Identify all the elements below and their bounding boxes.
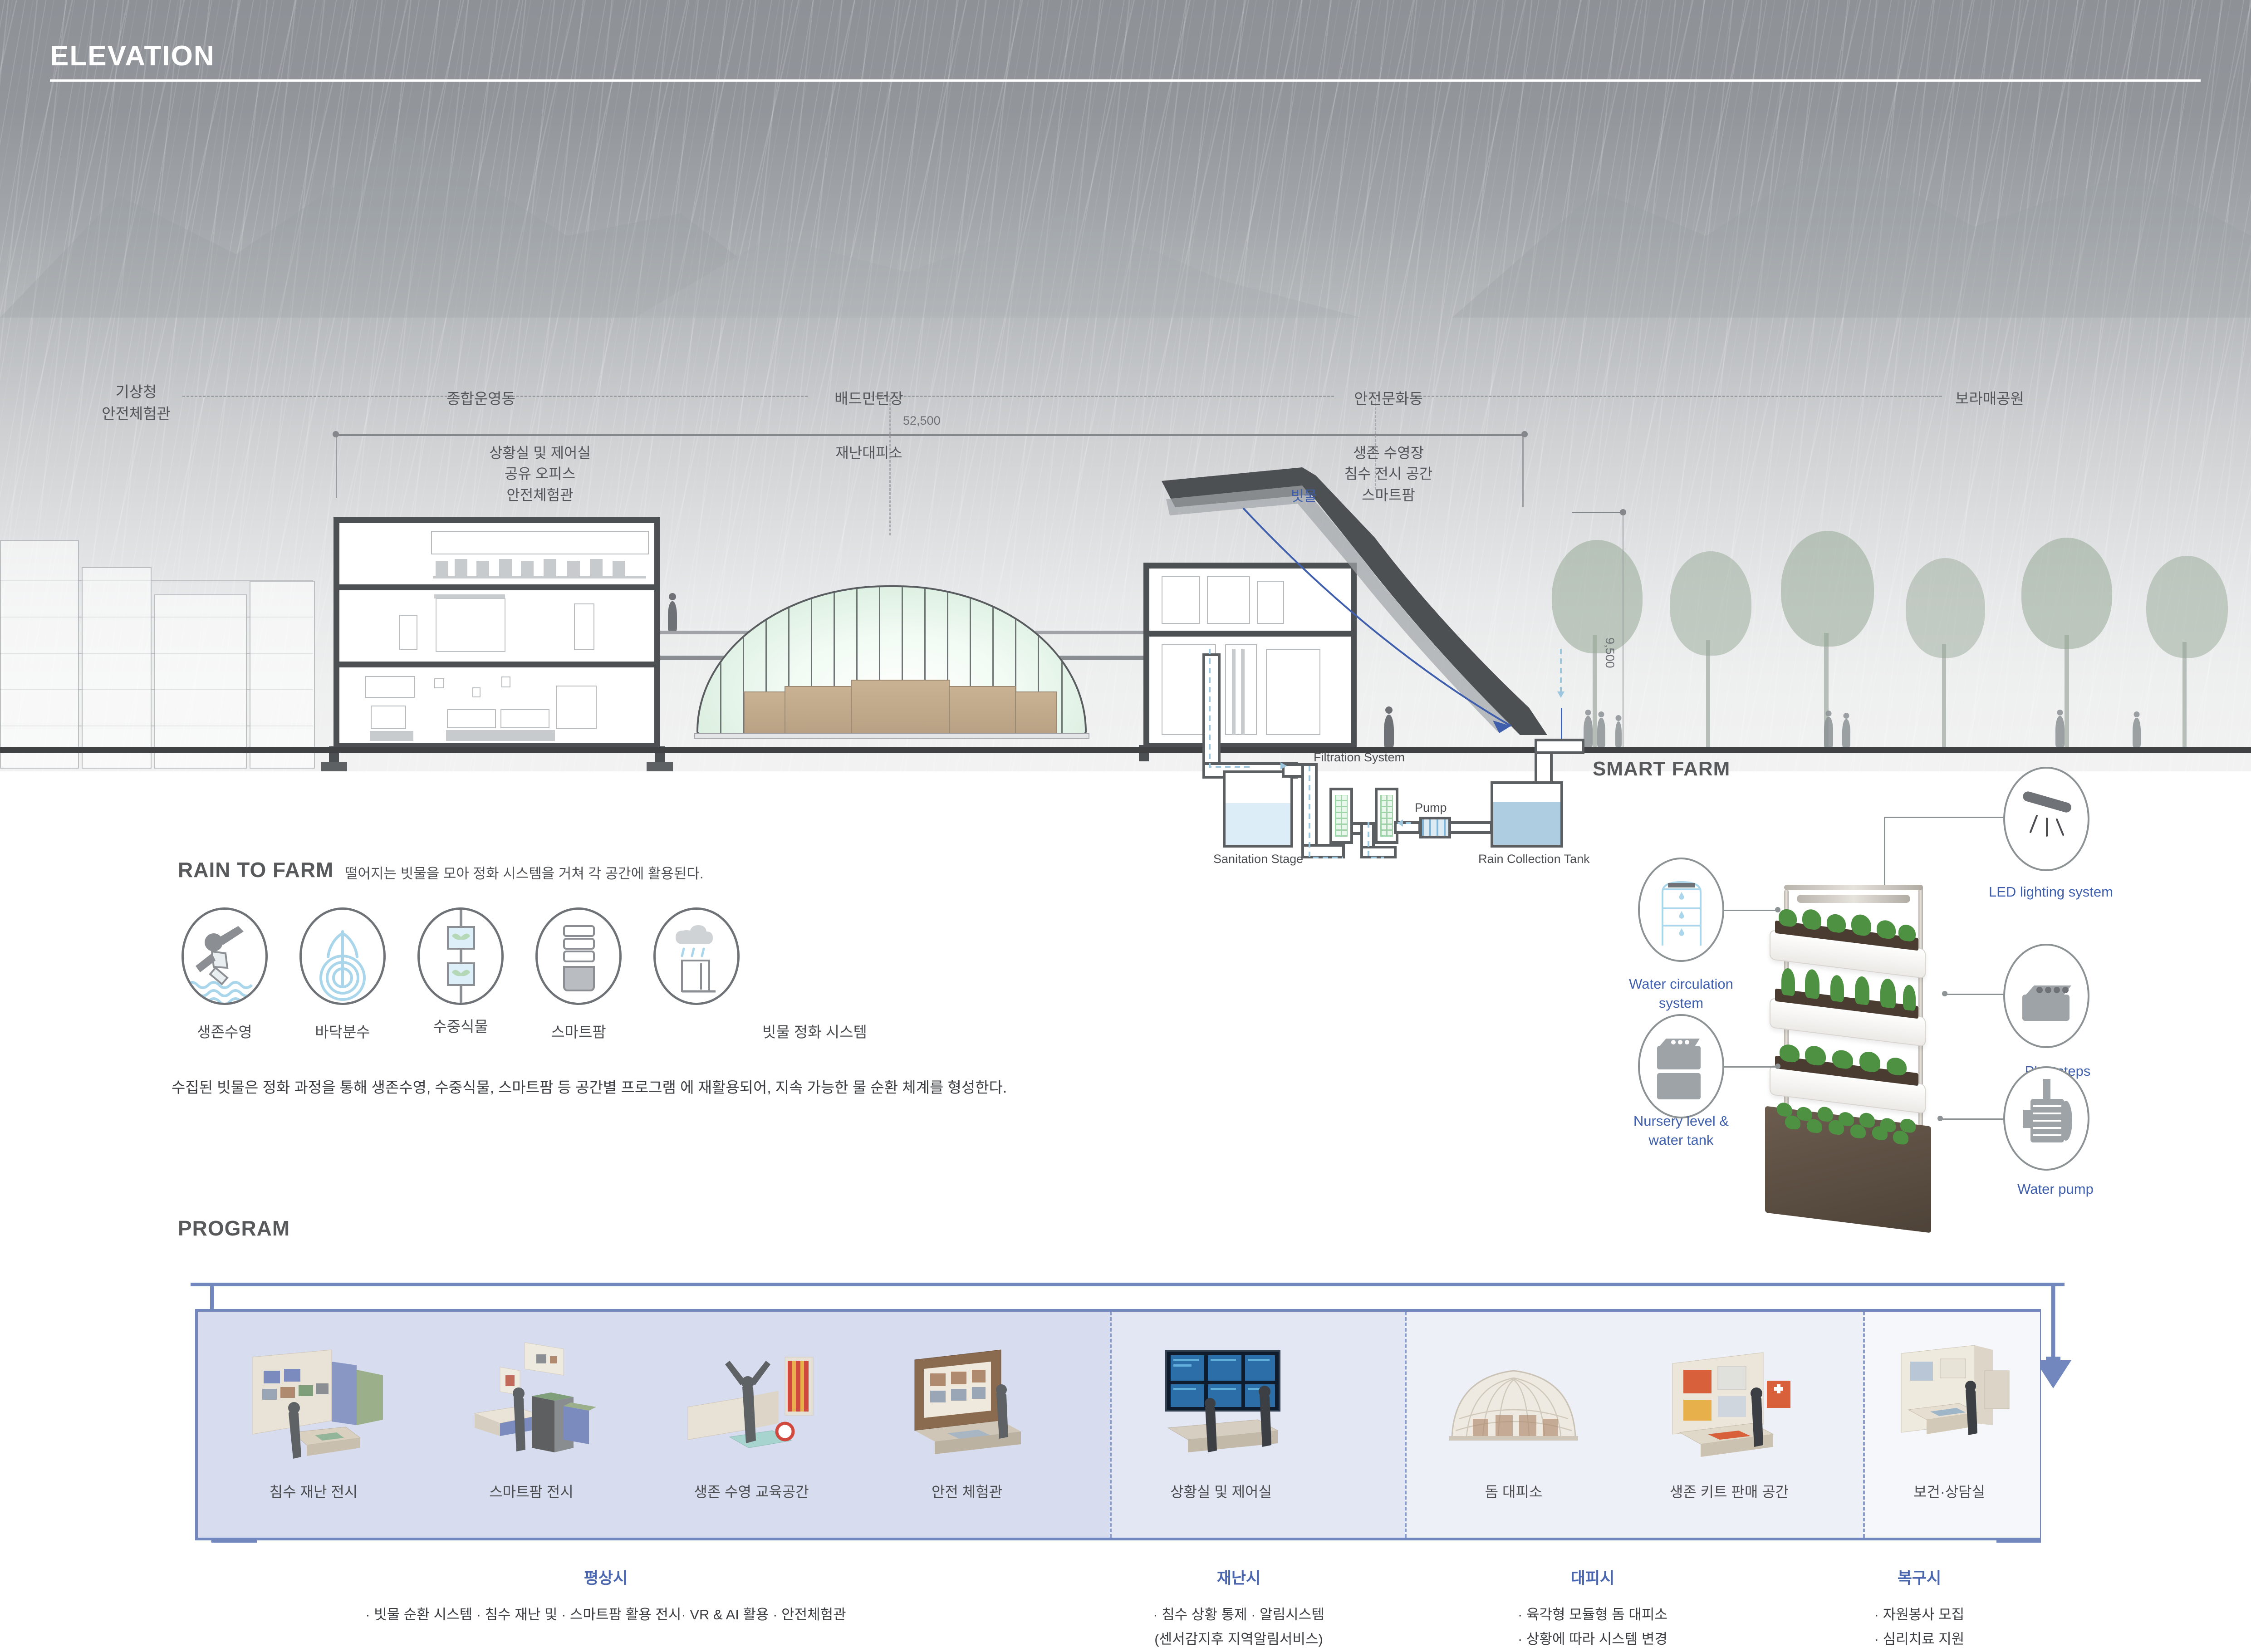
pipe-to-pump	[1394, 821, 1421, 834]
pump-unit	[1419, 817, 1451, 838]
rtf-label-purification: 빗물 정화 시스템	[762, 1020, 953, 1042]
band-divider-3	[1863, 1312, 1865, 1538]
dimension-tick-center	[889, 399, 891, 535]
pedestrian-2	[1597, 718, 1605, 747]
leader-dot-water-circ	[1775, 907, 1780, 912]
plantstep-icon	[2003, 944, 2089, 1048]
projection-screen	[436, 598, 505, 652]
pump-label: Pump	[1415, 801, 1447, 815]
rtf-label-smartfarm: 스마트팜	[510, 1020, 647, 1042]
elevation-scene: 기상청 안전체험관 종합운영동 배드민턴장 안전문화동 보라매공원 52,500…	[0, 0, 2251, 771]
rain-purification-icon	[653, 907, 740, 1005]
program-label-7: 보건·상담실	[1877, 1480, 2022, 1501]
water-circ-line2: system	[1597, 994, 1765, 1013]
led-bar-icon	[2003, 767, 2089, 871]
zone-label-weather-agency: 기상청 안전체험관	[91, 381, 181, 425]
led-bar	[1797, 895, 1910, 903]
rain-collection-tank	[1491, 781, 1563, 848]
filter-mesh-1	[1335, 795, 1348, 837]
water-circulation-icon	[1638, 858, 1724, 962]
thumb-control-room	[1146, 1339, 1296, 1461]
rack-rod-top	[1784, 885, 1923, 890]
filtration-system-label: Filtration System	[1314, 750, 1405, 765]
water-circulation-label: Water circulation system	[1597, 975, 1765, 1013]
vertical-dimension-text: 9,500	[1603, 637, 1617, 668]
program-left-rail	[210, 1283, 214, 1309]
rain-to-farm-section: RAIN TO FARM 떨어지는 빗물을 모아 정화 시스템을 거쳐 각 공간…	[0, 771, 1225, 1098]
program-label-0: 침수 재난 전시	[236, 1480, 391, 1501]
dome-shelter	[696, 585, 1087, 747]
room-label-safety-experience: 안전체험관	[454, 485, 626, 505]
thumb-safety-experience	[897, 1343, 1042, 1461]
vertical-dim-dot	[1620, 509, 1626, 515]
rain-collection-tank-label: Rain Collection Tank	[1478, 852, 1590, 866]
thumb-smartfarm-exhibit	[456, 1339, 606, 1461]
zone-label-line2: 안전체험관	[91, 403, 181, 425]
sanitation-stage-label: Sanitation Stage	[1213, 852, 1303, 866]
zone-dashed-rule-1	[182, 396, 464, 397]
leader-led-drop	[1884, 817, 1885, 885]
leader-water-pump	[1942, 1118, 2005, 1120]
lower-content-panel: RAIN TO FARM 떨어지는 빗물을 모아 정화 시스템을 거쳐 각 공간…	[0, 771, 2251, 1592]
water-circ-line1: Water circulation	[1597, 975, 1765, 994]
led-lighting-label: LED lighting system	[1969, 882, 2133, 902]
rtf-label-fountain: 바닥분수	[275, 1020, 411, 1042]
zone-dashed-rule-4	[1411, 396, 1942, 397]
dimension-endpoint-right	[1521, 431, 1528, 437]
nursery-line2: water tank	[1597, 1131, 1765, 1150]
leader-dot-plantsteps	[1942, 991, 1947, 996]
vertical-dim-line	[1623, 512, 1623, 747]
filtration-column-1	[1329, 788, 1353, 844]
filtration-diagram: Sanitation Stage Filtration System Pump …	[1198, 753, 1579, 944]
room-label-survival-pool: 생존 수영장	[1320, 442, 1457, 463]
phase2-line1: · 육각형 모듈형 돔 대피소	[1493, 1603, 1692, 1627]
office-furniture-row	[431, 531, 649, 581]
thumb-survival-kit	[1654, 1343, 1804, 1461]
dimension-endpoint-left	[333, 431, 339, 437]
leader-dot-nursery	[1775, 1064, 1780, 1069]
nursery-tank-label: Nursery level & water tank	[1597, 1112, 1765, 1150]
overall-dimension-line	[336, 434, 1525, 436]
pipe-base-2	[1360, 846, 1397, 858]
left-building-section	[333, 517, 660, 749]
phase3-line2: · 심리치료 지원	[1829, 1627, 2010, 1652]
phase1-line1: · 침수 상황 통제 · 알림시스템	[1139, 1603, 1339, 1627]
phase0-line1: · 빗물 순환 시스템 · 침수 재난 및 · 스마트팜 활용 전시· VR &…	[197, 1603, 1014, 1627]
leader-nursery	[1723, 1066, 1778, 1068]
program-top-rail	[191, 1283, 2065, 1286]
room-label-shelter: 재난대피소	[812, 442, 926, 463]
phase-title-0: 평상시	[524, 1565, 687, 1588]
room-label-left-group: 상황실 및 제어실 공유 오피스 안전체험관	[454, 442, 626, 505]
pedestrian-4	[1824, 717, 1833, 747]
program-label-5: 돔 대피소	[1441, 1480, 1586, 1501]
thumb-flood-exhibit	[239, 1343, 388, 1461]
zone-label-badminton: 배드민턴장	[812, 388, 926, 410]
rain-tank-water-level	[1493, 802, 1560, 845]
pedestrian-6	[2055, 716, 2065, 747]
room-label-smartfarm: 스마트팜	[1320, 485, 1457, 505]
pedestrian-7	[2133, 718, 2141, 747]
dimension-tick-far-right	[1522, 434, 1524, 507]
left-city-block	[0, 513, 313, 767]
swimmer-icon	[181, 907, 268, 1005]
page-title: ELEVATION	[50, 40, 2210, 72]
pipe-pump-to-tank	[1448, 821, 1493, 834]
phase-desc-1: · 침수 상황 통제 · 알림시스템 (센서감지후 지역알림서비스)	[1139, 1603, 1339, 1652]
smart-farm-rack	[1761, 871, 1951, 1152]
zone-label-boramae-park: 보라매공원	[1933, 388, 2046, 410]
figure-on-deck	[668, 601, 677, 631]
program-label-6: 생존 키트 판매 공간	[1648, 1480, 1811, 1501]
band-divider-1	[1110, 1312, 1112, 1538]
leader-plantsteps	[1947, 994, 2005, 995]
program-section: PROGRAM	[0, 1216, 2251, 1592]
thumb-survival-swim	[674, 1343, 829, 1461]
nursery-line1: Nursery level &	[1597, 1112, 1765, 1131]
ground-floor-exhibit	[365, 674, 610, 742]
pedestrian-5	[1842, 719, 1850, 747]
filter-mesh-2	[1380, 795, 1393, 837]
dome-base-slab	[694, 733, 1089, 739]
board-header: ELEVATION	[50, 40, 2210, 82]
room-label-control-room: 상황실 및 제어실	[454, 442, 626, 463]
dimension-tick-left	[336, 434, 337, 498]
aquatic-plant-icon	[417, 907, 504, 1005]
rtf-label-aquatic: 수중식물	[392, 1015, 529, 1036]
thumb-health-counsel	[1877, 1343, 2022, 1461]
phase-desc-2: · 육각형 모듈형 돔 대피소 · 상황에 따라 시스템 변경	[1493, 1603, 1692, 1652]
pedestrian-1	[1584, 716, 1593, 747]
phase2-line2: · 상황에 따라 시스템 변경	[1493, 1627, 1692, 1652]
leader-dot-water-pump	[1937, 1116, 1943, 1121]
phase-title-1: 재난시	[1157, 1565, 1320, 1588]
rain-to-farm-footnote: 수집된 빗물은 정화 과정을 통해 생존수영, 수중식물, 스마트팜 등 공간별…	[172, 1075, 1007, 1097]
program-band: 침수 재난 전시 스마트팜 전시 생존 수영 교육공간 안전 체험관 상황실 및…	[195, 1309, 2037, 1540]
rtf-label-swim: 생존수영	[157, 1020, 293, 1042]
nursery-tank-icon	[1638, 1014, 1724, 1118]
overall-dimension-text: 52,500	[903, 414, 941, 428]
floor-fountain-icon	[299, 907, 386, 1005]
pipe-base-1	[1301, 844, 1345, 858]
band-divider-2	[1405, 1312, 1407, 1538]
program-label-2: 생존 수영 교육공간	[672, 1480, 831, 1501]
pipe-riser-1	[1301, 763, 1318, 858]
phase-desc-0: · 빗물 순환 시스템 · 침수 재난 및 · 스마트팜 활용 전시· VR &…	[197, 1603, 1014, 1627]
program-label-3: 안전 체험관	[892, 1480, 1042, 1501]
zone-dashed-rule-2	[508, 396, 808, 397]
smart-farm-icon	[535, 907, 622, 1005]
rain-to-farm-subtitle: 떨어지는 빗물을 모아 정화 시스템을 거쳐 각 공간에 활용된다.	[345, 862, 704, 882]
phase-title-2: 대피시	[1511, 1565, 1674, 1588]
pedestrian-3	[1615, 721, 1622, 747]
smart-farm-section: SMART FARM	[1579, 753, 2237, 1112]
vertical-dim-top-leader	[1572, 512, 1622, 513]
rainwater-annotation: 빗물	[1291, 485, 1317, 505]
thumb-dome-shelter	[1441, 1351, 1586, 1460]
phase-desc-3: · 자원봉사 모집 · 심리치료 지원	[1829, 1603, 2010, 1652]
smart-farm-title: SMART FARM	[1593, 758, 1730, 780]
water-pump-icon	[2003, 1066, 2089, 1171]
zone-dashed-rule-3	[871, 396, 1334, 397]
header-divider	[50, 79, 2201, 82]
leader-led	[1884, 817, 2005, 818]
leader-water-circ	[1723, 910, 1778, 911]
water-pump-label: Water pump	[1983, 1180, 2128, 1199]
rain-to-farm-title: RAIN TO FARM	[178, 858, 333, 882]
park-trees	[1534, 476, 2251, 749]
sanitation-stage-tank	[1223, 770, 1293, 848]
room-label-shared-office: 공유 오피스	[454, 463, 626, 484]
inlet-pipe-vertical	[1202, 653, 1221, 776]
tank-inlet-pipe-h	[1535, 739, 1584, 754]
phase1-line2: (센서감지후 지역알림서비스)	[1139, 1627, 1339, 1652]
room-label-right-group: 생존 수영장 침수 전시 공간 스마트팜	[1320, 442, 1457, 505]
sanitation-water-level	[1226, 803, 1290, 845]
program-label-1: 스마트팜 전시	[454, 1480, 608, 1501]
program-title: PROGRAM	[178, 1216, 290, 1240]
filtration-column-2	[1375, 788, 1398, 844]
room-label-flood-exhibit: 침수 전시 공간	[1320, 463, 1457, 484]
program-label-4: 상황실 및 제어실	[1144, 1480, 1298, 1501]
phase-title-3: 복구시	[1838, 1565, 2001, 1588]
zone-label-line1: 기상청	[91, 381, 181, 403]
phase3-line1: · 자원봉사 모집	[1829, 1603, 2010, 1627]
zone-label-safety-culture: 안전문화동	[1332, 388, 1445, 410]
zone-label-operations: 종합운영동	[424, 388, 538, 410]
